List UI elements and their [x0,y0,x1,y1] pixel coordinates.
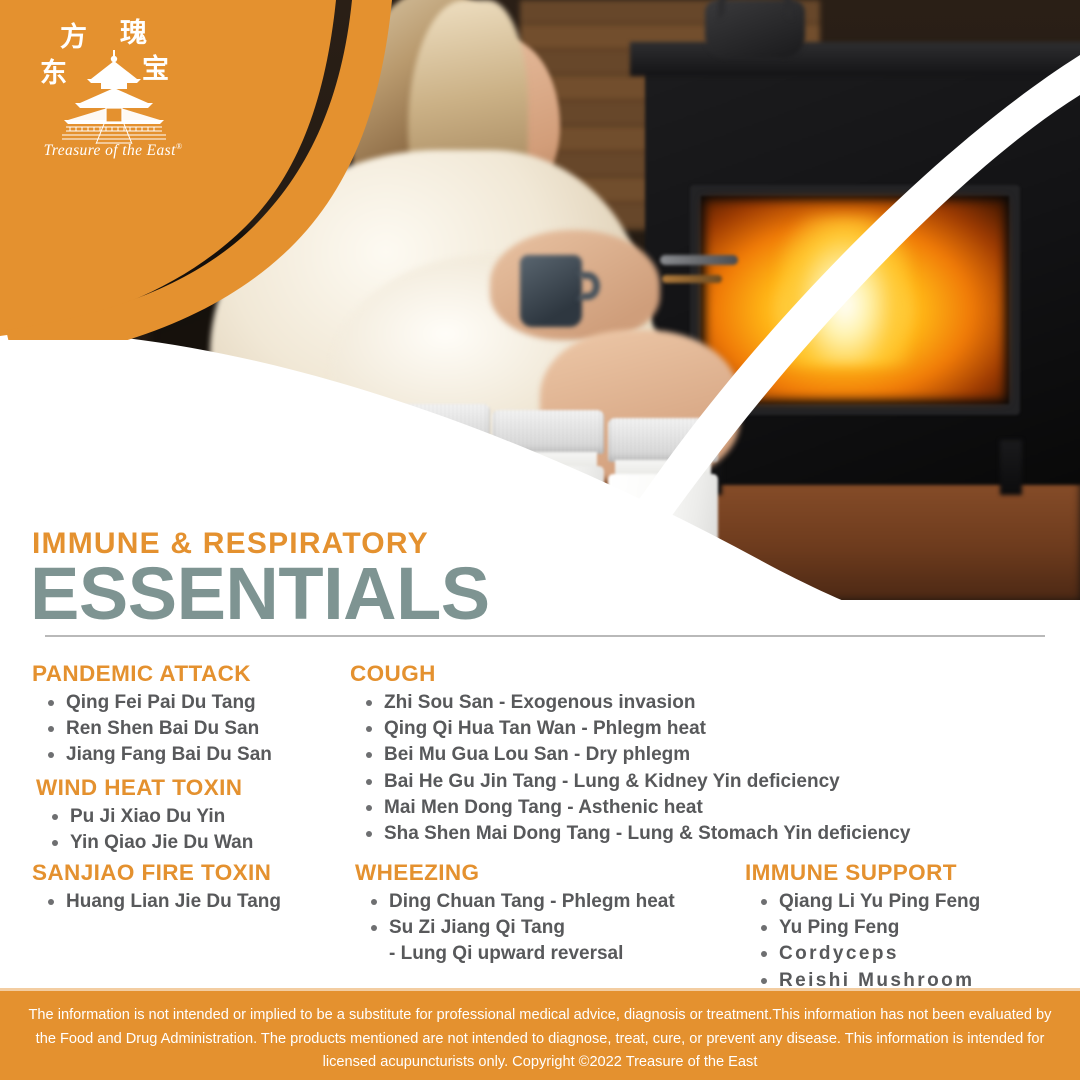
bottle-cap [492,410,604,454]
list-item: Huang Lian Jie Du Tang [46,889,281,915]
list-item: Yu Ping Feng [759,915,980,941]
list-item: Cordyceps [759,941,980,967]
list-item: Qing Fei Pai Du Tang [46,690,272,716]
title-divider [45,635,1045,637]
list-item: Su Zi Jiang Qi Tang [369,915,675,941]
bottle-cap [148,398,256,442]
section-list: Huang Lian Jie Du Tang [46,889,281,915]
logo-hanzi-2: 瑰 [120,20,147,47]
section-heading: WHEEZING [355,860,675,886]
list-item-continuation: - Lung Qi upward reversal [369,941,675,967]
section-wind-heat-toxin: WIND HEAT TOXIN Pu Ji Xiao Du Yin Yin Qi… [36,775,253,856]
logo-tagline: Treasure of the East® [38,142,188,160]
footer-disclaimer-bar: The information is not intended or impli… [0,988,1080,1080]
section-list: Qing Fei Pai Du Tang Ren Shen Bai Du San… [46,690,272,769]
section-wheezing: WHEEZING Ding Chuan Tang - Phlegm heat S… [355,860,675,968]
list-item: Ding Chuan Tang - Phlegm heat [369,889,675,915]
list-item: Jiang Fang Bai Du San [46,742,272,768]
section-list: Qiang Li Yu Ping Feng Yu Ping Feng Cordy… [759,889,980,994]
section-list: Ding Chuan Tang - Phlegm heat Su Zi Jian… [369,889,675,968]
bottle-cap [262,402,374,446]
bottle-cap [608,418,718,462]
list-item: Sha Shen Mai Dong Tang - Lung & Stomach … [364,821,910,847]
section-heading: COUGH [350,661,910,687]
sections-grid: PANDEMIC ATTACK Qing Fei Pai Du Tang Ren… [0,655,1080,985]
headline-block: IMMUNE & RESPIRATORY ESSENTIALS [0,528,1080,637]
poster-canvas: TIANJIANG Treasure of the East Capsules … [0,0,1080,1080]
brand-logo[interactable]: 方 瑰 东 宝 [38,22,188,177]
logo-registered-mark: ® [176,142,182,151]
logo-hanzi-1: 方 [60,24,87,51]
section-list: Zhi Sou San - Exogenous invasion Qing Qi… [364,690,910,847]
list-item: Qing Qi Hua Tan Wan - Phlegm heat [364,716,910,742]
list-item: Mai Men Dong Tang - Asthenic heat [364,795,910,821]
logo-tagline-text: Treasure of the East [44,142,176,159]
list-item: Zhi Sou San - Exogenous invasion [364,690,910,716]
list-item: Ren Shen Bai Du San [46,716,272,742]
section-heading: IMMUNE SUPPORT [745,860,980,886]
list-item: Yin Qiao Jie Du Wan [50,830,253,856]
list-item: Bai He Gu Jin Tang - Lung & Kidney Yin d… [364,769,910,795]
temple-of-heaven-icon [60,48,168,146]
section-heading: WIND HEAT TOXIN [36,775,253,801]
section-pandemic-attack: PANDEMIC ATTACK Qing Fei Pai Du Tang Ren… [32,661,272,769]
footer-top-rule [0,988,1080,991]
disclaimer-text: The information is not intended or impli… [0,988,1080,1075]
list-item: Pu Ji Xiao Du Yin [50,804,253,830]
section-list: Pu Ji Xiao Du Yin Yin Qiao Jie Du Wan [50,804,253,856]
list-item: Qiang Li Yu Ping Feng [759,889,980,915]
list-item: Bei Mu Gua Lou San - Dry phlegm [364,742,910,768]
section-heading: SANJIAO FIRE TOXIN [32,860,281,886]
section-cough: COUGH Zhi Sou San - Exogenous invasion Q… [350,661,910,847]
section-heading: PANDEMIC ATTACK [32,661,272,687]
section-sanjiao-fire-toxin: SANJIAO FIRE TOXIN Huang Lian Jie Du Tan… [32,860,281,915]
section-immune-support: IMMUNE SUPPORT Qiang Li Yu Ping Feng Yu … [745,860,980,994]
page-title: ESSENTIALS [30,558,1080,629]
bottle-cap [378,404,490,448]
